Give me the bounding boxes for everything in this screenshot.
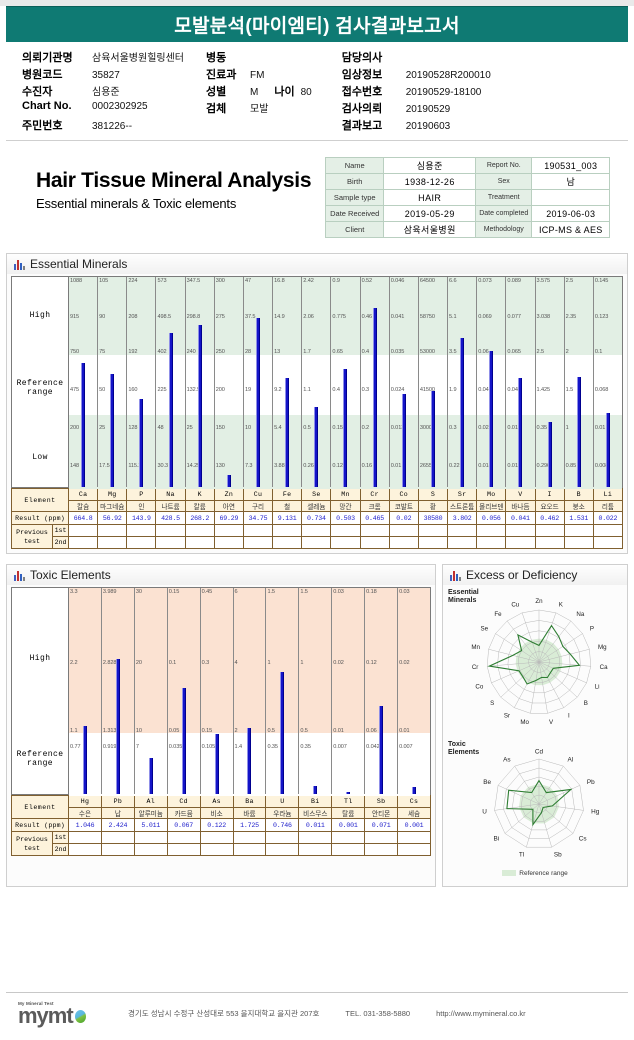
essential-radar: Essential Minerals ZnKNaPMgCaLiBIVMoSrSC… [447,588,623,736]
essential-minerals-panel: Essential Minerals HighReferencerangeLow… [6,253,628,554]
table-row: Client삼육서울병원MethodologyICP-MS & AES [326,222,610,238]
scale-tick: 2.06 [303,314,314,320]
element-name-kor: 붕소 [564,501,593,512]
previous-2nd-label: 2nd [53,537,69,549]
chart-bar [81,363,85,487]
toxic-radar-label: Toxic Elements [448,741,479,757]
element-name-kor: 크롬 [360,501,389,512]
footer-url[interactable]: http://www.mymineral.co.kr [436,1009,526,1018]
result-value: 0.465 [360,512,389,525]
field-value: 2019-06-03 [532,206,610,222]
scale-tick: 0.03 [333,589,344,595]
result-value: 0.02 [389,512,418,525]
toxic-data-table: ElementHgPbAlCdAsBaUBiTlSbCs수은납알루미늄카드뮴비소… [11,795,431,856]
scale-tick: 0.5 [300,728,307,734]
chart-bar [182,688,186,794]
chart-bar [256,318,260,487]
chart-column: 2.422.061.71.10.50.26 [302,277,331,487]
table-row: 칼슘마그네슘인나트륨칼륨아연구리철셀레늄망간크롬코발트황스트론튬몰리브덴바나듬요… [12,501,623,512]
scale-tick: 6.6 [449,278,456,284]
scale-tick: 0.18 [366,589,377,595]
axis-band-label: Low [12,453,68,462]
excess-deficiency-header: Excess or Deficiency [443,565,627,585]
radar-axis-label: Mo [520,719,529,726]
field-key: Date Received [326,206,384,222]
analysis-title: Hair Tissue Mineral Analysis [36,169,311,193]
previous-1st-value [167,832,200,844]
scale-tick: 1088 [70,278,82,284]
table-row: Previoustest1st [12,832,431,844]
element-symbol: Sr [448,489,477,501]
scale-tick: 3.038 [537,314,551,320]
scale-tick: 0.4 [332,387,339,393]
radar-axis-label: Cd [535,748,544,755]
scale-tick: 2 [566,349,569,355]
previous-test-header: Previoustest [12,525,53,549]
previous-1st-value [266,832,299,844]
table-row: 2nd [12,844,431,856]
scale-tick: 0.4 [362,349,369,355]
element-name-kor: 수은 [69,808,102,819]
chart-bar [247,728,251,794]
chart-column: 0.030.020.010.007 [398,588,430,794]
chart-plot-area: 3.32.21.10.773.9892.8281.3130.9193020107… [69,588,430,794]
scale-tick: 10 [245,425,251,431]
scale-tick: 105 [99,278,108,284]
chart-column: 0.90.7750.650.40.150.125 [331,277,360,487]
radar-axis-label: Mn [471,644,480,651]
scale-tick: 0.01 [595,425,606,431]
scale-tick: 0.77 [70,744,81,750]
field-value: 35827 [92,70,120,81]
chart-bar [518,378,522,487]
field-value: 20190529 [406,104,451,115]
scale-tick: 0.16 [362,463,373,469]
field-label: 주민번호 [22,117,86,133]
element-name-kor: 리튬 [593,501,622,512]
toxic-elements-header: Toxic Elements [7,565,435,585]
chart-column: 0.180.120.060.042 [365,588,398,794]
element-name-kor: 아연 [214,501,243,512]
field-value: 심용준 [92,83,120,98]
scale-tick: 28 [245,349,251,355]
scale-tick: 0.06 [478,349,489,355]
element-symbol: S [418,489,447,501]
scale-tick: 0.35 [267,744,278,750]
chart-column: 3020107 [135,588,168,794]
result-value: 38580 [418,512,447,525]
field-label: 병동 [206,49,244,65]
scale-tick: 0.042 [366,744,380,750]
radar-axis-label: Cr [472,664,479,671]
chart-bar [227,475,231,487]
result-value: 5.011 [134,819,167,832]
axis-band-label: Referencerange [12,379,68,397]
element-symbol: Cr [360,489,389,501]
scale-tick: 1.4 [235,744,242,750]
scale-tick: 402 [157,349,166,355]
previous-2nd-value [101,844,134,856]
previous-2nd-value [506,537,535,549]
result-value: 0.122 [200,819,233,832]
element-name-kor: 마그네슘 [98,501,127,512]
scale-tick: 1.313 [103,728,117,734]
previous-2nd-value [156,537,185,549]
previous-test-header: Previoustest [12,832,53,856]
previous-1st-value [365,832,398,844]
previous-1st-label: 1st [53,525,69,537]
previous-1st-value [243,525,272,537]
result-value: 0.503 [331,512,360,525]
chart-column: 1.510.50.35 [266,588,299,794]
radar-axis-label: Mg [598,644,607,651]
result-value: 143.9 [127,512,156,525]
field-label: 성별 [206,83,244,99]
table-row: ElementCaMgPNaKZnCuFeSeMnCrCoSSrMoVIBLi [12,489,623,501]
result-header: Result (ppm) [12,512,69,525]
radar-axis-label: Al [567,757,573,764]
radar-axis-label: P [590,626,594,633]
scale-tick: 0.01 [399,728,410,734]
report-subheader: Hair Tissue Mineral Analysis Essential m… [6,155,628,247]
scale-tick: 0.06 [366,728,377,734]
element-symbol: Mg [98,489,127,501]
element-name-kor: 탈륨 [332,808,365,819]
previous-1st-value [127,525,156,537]
essential-radar-svg: ZnKNaPMgCaLiBIVMoSrSCoCrMnSeFeCu [447,588,625,736]
scale-tick: 0.26 [303,463,314,469]
scale-tick: 750 [70,349,79,355]
scale-tick: 3.3 [70,589,77,595]
scale-tick: 1.5 [267,589,274,595]
page-title: 모발분석(마이엠티) 검사결과보고서 [174,11,460,38]
field-value [532,190,610,206]
info-row: 검체모발 [206,100,312,117]
previous-1st-value [477,525,506,537]
scale-tick: 0.03 [399,589,410,595]
field-value: 190531_003 [532,158,610,174]
previous-2nd-value [389,537,418,549]
field-label: 수진자 [22,83,86,99]
previous-2nd-value [200,844,233,856]
previous-1st-value [448,525,477,537]
previous-2nd-value [360,537,389,549]
element-symbol: Hg [69,796,102,808]
scale-tick: 298.8 [187,314,201,320]
previous-2nd-value [127,537,156,549]
info-row: 임상정보20190528R200010 [342,66,491,83]
field-value: ICP-MS & AES [532,222,610,238]
table-row: 수은납알루미늄카드뮴비소바륨우라늄비스무스탈륨안티몬세슘 [12,808,431,819]
scale-tick: 37.5 [245,314,256,320]
radar-axis-label: I [568,713,570,720]
previous-1st-label: 1st [53,832,69,844]
scale-tick: 47 [245,278,251,284]
scale-tick: 10 [136,728,142,734]
scale-tick: 0.3 [362,387,369,393]
element-symbol: Bi [299,796,332,808]
scale-tick: 0.145 [595,278,609,284]
essential-minerals-title: Essential Minerals [30,257,127,271]
radar-axis-label: Bi [494,835,500,842]
scale-tick: 1.7 [303,349,310,355]
previous-2nd-value [233,844,266,856]
scale-tick: 0.035 [169,744,183,750]
element-name-kor: 황 [418,501,447,512]
band-label-high: High [30,311,51,320]
chart-column: 3.5753.0382.51.4250.350.296 [536,277,565,487]
scale-tick: 1.5 [566,387,573,393]
chart-bar [460,338,464,487]
element-name-kor: 나트륨 [156,501,185,512]
radar-axis-label: Zn [535,598,543,605]
scale-tick: 0.919 [103,744,117,750]
chart-column: 0.1450.1230.10.0680.010.008 [594,277,622,487]
previous-2nd-value [332,844,365,856]
info-row: 병동 [206,49,312,66]
chart-bar [83,726,87,794]
radar-axis-label: Hg [591,808,600,815]
field-label: 담당의사 [342,49,400,65]
scale-tick: 300 [216,278,225,284]
previous-1st-value [69,832,102,844]
field-value: 20190529-18100 [406,87,482,98]
chart-column: 0.030.020.010.007 [332,588,365,794]
radar-axis-label: Tl [519,852,524,859]
scale-tick: 7 [136,744,139,750]
scale-tick: 148 [70,463,79,469]
scale-tick: 200 [216,387,225,393]
chart-column: 1059075502517.5 [98,277,127,487]
element-name-kor: 망간 [331,501,360,512]
chart-bar [198,325,202,487]
age-label: 나이 [274,83,294,99]
field-key: Treatment [476,190,532,206]
scale-tick: 75 [99,349,105,355]
result-header: Result (ppm) [12,819,69,832]
previous-1st-value [214,525,243,537]
previous-2nd-value [214,537,243,549]
previous-1st-value [98,525,127,537]
chart-bar [313,786,317,794]
previous-2nd-value [331,537,360,549]
radar-axis-label: Co [475,683,483,690]
previous-2nd-value [98,537,127,549]
radar-axis-label: As [503,757,510,764]
field-value: M [250,87,258,98]
scale-tick: 224 [128,278,137,284]
element-header: Element [12,796,69,819]
scale-tick: 0.069 [478,314,492,320]
scale-tick: 30.3 [157,463,168,469]
element-name-kor: 안티몬 [365,808,398,819]
element-name-kor: 알루미늄 [134,808,167,819]
chart-column: 16.814.9139.25.43.88 [273,277,302,487]
essential-chart: HighReferencerangeLow1088915750475200148… [11,276,623,488]
radar-axis-label: Be [483,779,491,786]
header-col-admin: 담당의사 임상정보20190528R200010 접수번호20190529-18… [312,49,491,134]
scale-tick: 7.3 [245,463,252,469]
field-value: 2019-05-29 [384,206,476,222]
info-row: 담당의사 [342,49,491,66]
scale-tick: 130 [216,463,225,469]
chart-column: 0.0730.0690.060.0430.0250.018 [477,277,506,487]
scale-tick: 0.65 [332,349,343,355]
element-symbol: Fe [273,489,302,501]
previous-2nd-value [299,844,332,856]
radar-axis-label: Sb [554,852,562,859]
element-symbol: B [564,489,593,501]
element-name-kor: 세슘 [398,808,431,819]
scale-tick: 50 [99,387,105,393]
result-value: 34.75 [243,512,272,525]
field-value: 1938-12-26 [384,174,476,190]
chart-column: 6.65.13.51.90.30.22 [448,277,477,487]
chart-bar [215,734,219,794]
field-label: 검사의뢰 [342,100,400,116]
scale-tick: 0.01 [391,463,402,469]
band-label-high: High [30,654,51,663]
scale-tick: 240 [187,349,196,355]
chart-column: 0.0890.0770.0650.0410.0180.011 [506,277,535,487]
info-row: 성별 M 나이 80 [206,83,312,100]
logo-wordmark: mymt [18,1006,114,1026]
previous-2nd-value [477,537,506,549]
result-value: 3.802 [448,512,477,525]
field-key: Report No. [476,158,532,174]
chart-column: 347.5298.8240132.52514.25 [186,277,215,487]
previous-1st-value [389,525,418,537]
previous-1st-value [185,525,214,537]
axis-band-label: Referencerange [12,750,68,768]
radar-axis-label: Se [480,626,488,633]
previous-1st-value [535,525,564,537]
field-value: 심용준 [384,158,476,174]
result-value: 0.022 [593,512,622,525]
info-row: Chart No.0002302925 [22,100,184,117]
scale-tick: 17.5 [99,463,110,469]
scale-tick: 2 [235,728,238,734]
scale-tick: 128 [128,425,137,431]
scale-tick: 14.9 [274,314,285,320]
element-name-kor: 코발트 [389,501,418,512]
field-value: FM [250,70,264,81]
table-row: Name심용준Report No.190531_003 [326,158,610,174]
element-symbol: Ca [69,489,98,501]
chart-bar [314,407,318,487]
table-row: 2nd [12,537,623,549]
scale-tick: 5.1 [449,314,456,320]
lower-section: Toxic Elements HighReferencerange3.32.21… [6,564,628,887]
chart-bar [169,333,173,487]
scale-tick: 0.46 [362,314,373,320]
scale-tick: 0.45 [202,589,213,595]
scale-tick: 58750 [420,314,435,320]
info-row: 검사의뢰20190529 [342,100,491,117]
scale-tick: 0.9 [332,278,339,284]
brand-logo: My Mineral Test mymt [18,1001,114,1026]
scale-tick: 1.9 [449,387,456,393]
scale-tick: 2.5 [537,349,544,355]
scale-tick: 160 [128,387,137,393]
result-value: 2.424 [101,819,134,832]
logo-dot-icon [75,1010,86,1023]
scale-tick: 0.007 [333,744,347,750]
scale-tick: 0.1 [595,349,602,355]
element-symbol: Co [389,489,418,501]
radar-axis-label: Pb [587,779,595,786]
element-symbol: K [185,489,214,501]
field-value: 모발 [250,100,268,115]
field-value: 남 [532,174,610,190]
scale-tick: 30 [136,589,142,595]
analysis-subtitle: Essential minerals & Toxic elements [36,196,311,211]
element-name-kor: 카드뮴 [167,808,200,819]
essential-radar-label: Essential Minerals [448,589,479,605]
scale-tick: 3.88 [274,463,285,469]
previous-1st-value [69,525,98,537]
chart-bar [149,758,153,794]
element-name-kor: 몰리브덴 [477,501,506,512]
radar-axis-label: S [490,700,494,707]
previous-2nd-value [398,844,431,856]
legend-swatch [502,870,516,876]
scale-tick: 0.22 [449,463,460,469]
chart-plot-area: 10889157504752001481059075502517.5224208… [69,277,622,487]
previous-2nd-value [134,844,167,856]
band-label-reference: Referencerange [17,379,64,397]
previous-1st-value [331,525,360,537]
scale-tick: 0.12 [366,660,377,666]
element-symbol: Mn [331,489,360,501]
table-row: Birth1938-12-26Sex남 [326,174,610,190]
element-symbol: Al [134,796,167,808]
previous-1st-value [360,525,389,537]
scale-tick: 200 [70,425,79,431]
element-name-kor: 우라늄 [266,808,299,819]
previous-2nd-value [418,537,447,549]
element-symbol: Zn [214,489,243,501]
scale-tick: 0.15 [202,728,213,734]
report-page: 모발분석(마이엠티) 검사결과보고서 의뢰기관명삼육서울병원힐링센터 병원코드3… [0,0,634,1040]
field-label: Chart No. [22,100,86,112]
element-name-kor: 스트론튬 [448,501,477,512]
chart-bar [489,351,493,487]
report-title-bar: 모발분석(마이엠티) 검사결과보고서 [6,6,628,42]
table-row: Result (ppm)664.856.92143.9428.5268.269.… [12,512,623,525]
element-name-kor: 비스무스 [299,808,332,819]
scale-tick: 4 [235,660,238,666]
scale-tick: 225 [157,387,166,393]
field-value: 381226-- [92,121,132,132]
chart-bar [346,792,350,794]
element-symbol: Tl [332,796,365,808]
info-row: 수진자심용준 [22,83,184,100]
previous-1st-value [101,832,134,844]
element-name-kor: 칼슘 [69,501,98,512]
scale-tick: 0.089 [507,278,521,284]
previous-1st-value [134,832,167,844]
field-value: 삼육서울병원 [384,222,476,238]
previous-1st-value [273,525,302,537]
scale-tick: 25 [187,425,193,431]
scale-tick: 0.046 [391,278,405,284]
chart-column: 0.520.460.40.30.20.16 [361,277,390,487]
chart-bar [280,672,284,794]
radar-axis-label: U [482,808,487,815]
chart-bar [139,399,143,487]
previous-2nd-value [273,537,302,549]
